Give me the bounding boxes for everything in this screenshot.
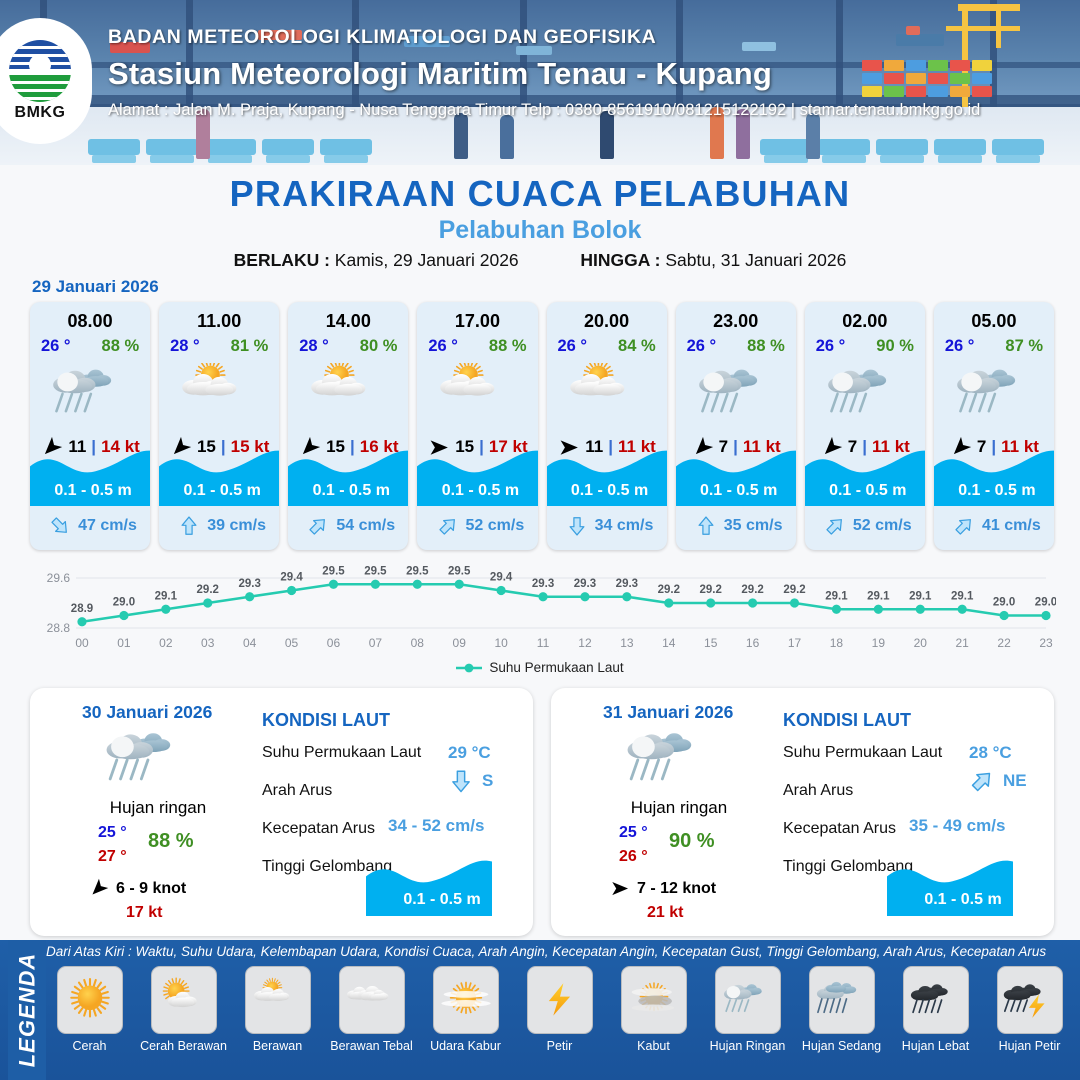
- daily-forecast-panels: 30 Januari 2026 Hujan ringan 25 ° 27 ° 8…: [30, 688, 1054, 936]
- panel-wave-box: 0.1 - 0.5 m: [366, 860, 518, 916]
- terminal-chair: [204, 139, 256, 155]
- card-wave-area: 0.1 - 0.5 m: [288, 444, 408, 506]
- svg-text:29.3: 29.3: [616, 578, 638, 590]
- panel-temp-max: 26 °: [619, 848, 648, 866]
- panel-wave-value: 0.1 - 0.5 m: [887, 891, 1039, 909]
- legend-item-icon-box: [997, 966, 1063, 1034]
- svg-text:29.2: 29.2: [197, 584, 219, 596]
- svg-text:29.3: 29.3: [574, 578, 596, 590]
- panel-wave-box: 0.1 - 0.5 m: [887, 860, 1039, 916]
- panel-weather-icon: [92, 726, 202, 794]
- weather-icon-hujan-sedang: [814, 974, 870, 1026]
- svg-text:29.4: 29.4: [280, 572, 303, 584]
- card-humidity: 88 %: [747, 337, 785, 356]
- svg-text:06: 06: [327, 636, 341, 650]
- legend-item-label: Hujan Sedang: [802, 1039, 881, 1053]
- legend-item-label: Cerah Berawan: [140, 1039, 227, 1053]
- svg-text:29.1: 29.1: [909, 590, 932, 602]
- svg-text:04: 04: [243, 636, 257, 650]
- card-current-speed: 54 cm/s: [336, 517, 395, 535]
- card-wave-height: 0.1 - 0.5 m: [159, 482, 279, 500]
- weather-icon-berawan: [564, 363, 650, 425]
- legend-item-label: Hujan Petir: [999, 1039, 1061, 1053]
- legend-item-label: Udara Kabur: [430, 1039, 501, 1053]
- person-figure: [500, 115, 514, 159]
- wind-direction-icon: [609, 878, 630, 899]
- card-wave-height: 0.1 - 0.5 m: [934, 482, 1054, 500]
- card-time: 20.00: [547, 311, 667, 332]
- panel-temp-max: 27 °: [98, 848, 127, 866]
- terminal-chair: [146, 139, 198, 155]
- svg-text:03: 03: [201, 636, 215, 650]
- current-direction-icon: [566, 515, 588, 537]
- panel-sst-value: 28 °C: [969, 743, 1012, 763]
- weather-icon-hujan-ringan: [720, 974, 776, 1026]
- card-weather-icon: [159, 358, 279, 430]
- current-direction-icon: [695, 515, 717, 537]
- svg-text:07: 07: [369, 636, 383, 650]
- legend-item-icon-box: [433, 966, 499, 1034]
- page-title: PRAKIRAAN CUACA PELABUHAN: [0, 173, 1080, 215]
- svg-text:10: 10: [494, 636, 508, 650]
- legend-item-icon-box: [621, 966, 687, 1034]
- panel-section-title: KONDISI LAUT: [262, 710, 390, 731]
- svg-text:29.0: 29.0: [1035, 597, 1056, 609]
- card-time: 23.00: [676, 311, 796, 332]
- legend-item: Cerah Berawan: [140, 966, 227, 1076]
- berlaku-value: Kamis, 29 Januari 2026: [335, 250, 519, 270]
- legend-item-label: Berawan: [253, 1039, 302, 1053]
- panel-date: 31 Januari 2026: [603, 702, 733, 723]
- panel-wind-row: 6 - 9 knot: [88, 878, 186, 899]
- panel-current-speed-label: Kecepatan Arus: [783, 820, 896, 838]
- card-time: 17.00: [417, 311, 537, 332]
- card-weather-icon: [30, 358, 150, 430]
- hourly-forecast-list: 08.00 26 ° 88 % 11 | 14 kt: [30, 302, 1054, 550]
- sst-chart: 28.829.628.90029.00129.10229.20329.30429…: [24, 556, 1056, 680]
- weather-icon-berawan: [434, 363, 520, 425]
- svg-text:29.1: 29.1: [867, 590, 890, 602]
- legend-item: Hujan Petir: [986, 966, 1073, 1076]
- card-current-speed: 52 cm/s: [466, 517, 525, 535]
- legend-item-label: Kabut: [637, 1039, 670, 1053]
- weather-icon-berawan-tebal: [344, 974, 400, 1026]
- current-direction-icon: [824, 515, 846, 537]
- card-current-row: 41 cm/s: [934, 509, 1054, 543]
- card-weather-icon: [805, 358, 925, 430]
- svg-text:15: 15: [704, 636, 718, 650]
- svg-text:18: 18: [830, 636, 844, 650]
- current-direction-icon: [178, 515, 200, 537]
- legend-item: Kabut: [610, 966, 697, 1076]
- weather-icon-hujan-ringan: [822, 363, 908, 425]
- terminal-chair: [876, 139, 928, 155]
- legend-item-icon-box: [245, 966, 311, 1034]
- station-name: Stasiun Meteorologi Maritim Tenau - Kupa…: [108, 56, 980, 92]
- agency-name: BADAN METEOROLOGI KLIMATOLOGI DAN GEOFIS…: [108, 26, 980, 49]
- weather-icon-udara-kabur: [438, 974, 494, 1026]
- legend-item-icon-box: [903, 966, 969, 1034]
- svg-text:20: 20: [914, 636, 928, 650]
- card-air-temperature: 26 °: [816, 337, 846, 356]
- legend-item-icon-box: [339, 966, 405, 1034]
- legend-item-icon-box: [527, 966, 593, 1034]
- chart-legend: Suhu Permukaan Laut: [24, 660, 1056, 675]
- card-air-temperature: 28 °: [299, 337, 329, 356]
- svg-text:29.2: 29.2: [658, 584, 680, 596]
- svg-text:29.1: 29.1: [825, 590, 848, 602]
- svg-text:29.4: 29.4: [490, 572, 513, 584]
- card-humidity: 90 %: [876, 337, 914, 356]
- bmkg-logo: BMKG: [0, 18, 92, 144]
- card-wave-height: 0.1 - 0.5 m: [547, 482, 667, 500]
- svg-text:29.5: 29.5: [406, 565, 429, 577]
- panel-wind-row: 7 - 12 knot: [609, 878, 716, 899]
- svg-text:12: 12: [578, 636, 592, 650]
- weather-icon-hujan-ringan: [693, 363, 779, 425]
- card-weather-icon: [417, 358, 537, 430]
- panel-date: 30 Januari 2026: [82, 702, 212, 723]
- legend-item: Petir: [516, 966, 603, 1076]
- legend-item-icon-box: [57, 966, 123, 1034]
- chart-legend-label: Suhu Permukaan Laut: [489, 660, 623, 675]
- svg-text:02: 02: [159, 636, 173, 650]
- panel-weather-icon: [613, 726, 723, 794]
- svg-text:16: 16: [746, 636, 760, 650]
- svg-text:29.1: 29.1: [155, 590, 178, 602]
- card-current-row: 52 cm/s: [417, 509, 537, 543]
- card-time: 14.00: [288, 311, 408, 332]
- svg-text:29.3: 29.3: [238, 578, 260, 590]
- terminal-chair: [992, 139, 1044, 155]
- svg-text:29.0: 29.0: [113, 597, 135, 609]
- current-direction-icon: [953, 515, 975, 537]
- card-air-temperature: 28 °: [170, 337, 200, 356]
- wind-direction-icon: [88, 878, 109, 899]
- svg-text:29.5: 29.5: [322, 565, 345, 577]
- card-current-speed: 52 cm/s: [853, 517, 912, 535]
- card-current-speed: 39 cm/s: [207, 517, 266, 535]
- legend-item: Cerah: [46, 966, 133, 1076]
- svg-text:29.6: 29.6: [47, 571, 71, 585]
- card-current-row: 54 cm/s: [288, 509, 408, 543]
- current-direction-icon: [437, 515, 459, 537]
- sst-chart-svg: 28.829.628.90029.00129.10229.20329.30429…: [24, 556, 1056, 660]
- svg-text:29.0: 29.0: [993, 597, 1015, 609]
- legend-item-icon-box: [715, 966, 781, 1034]
- card-humidity: 88 %: [102, 337, 140, 356]
- card-humidity: 88 %: [489, 337, 527, 356]
- svg-text:13: 13: [620, 636, 634, 650]
- svg-text:22: 22: [997, 636, 1011, 650]
- legend-item-label: Hujan Lebat: [902, 1039, 969, 1053]
- card-wave-area: 0.1 - 0.5 m: [676, 444, 796, 506]
- card-current-row: 34 cm/s: [547, 509, 667, 543]
- panel-current-dir-value: NE: [1003, 771, 1027, 791]
- card-wave-area: 0.1 - 0.5 m: [934, 444, 1054, 506]
- card-current-speed: 47 cm/s: [78, 517, 137, 535]
- card-current-speed: 35 cm/s: [724, 517, 783, 535]
- page-header: BMKG BADAN METEOROLOGI KLIMATOLOGI DAN G…: [0, 0, 1080, 165]
- card-air-temperature: 26 °: [945, 337, 975, 356]
- svg-text:11: 11: [537, 636, 550, 650]
- card-time: 08.00: [30, 311, 150, 332]
- card-wave-height: 0.1 - 0.5 m: [288, 482, 408, 500]
- card-time: 11.00: [159, 311, 279, 332]
- legend-footer: LEGENDA Dari Atas Kiri : Waktu, Suhu Uda…: [0, 940, 1080, 1080]
- terminal-chair: [760, 139, 812, 155]
- card-time: 02.00: [805, 311, 925, 332]
- weather-icon-cerah-berawan: [156, 974, 212, 1026]
- legend-item: Hujan Sedang: [798, 966, 885, 1076]
- card-current-row: 35 cm/s: [676, 509, 796, 543]
- panel-current-dir-label: Arah Arus: [262, 782, 332, 800]
- card-humidity: 87 %: [1005, 337, 1043, 356]
- page-subtitle: Pelabuhan Bolok: [0, 216, 1080, 245]
- weather-icon-berawan: [176, 363, 262, 425]
- svg-text:19: 19: [872, 636, 886, 650]
- card-wave-height: 0.1 - 0.5 m: [30, 482, 150, 500]
- current-direction-icon: [307, 515, 329, 537]
- panel-humidity: 90 %: [669, 830, 715, 853]
- panel-sst-label: Suhu Permukaan Laut: [783, 744, 942, 762]
- weather-icon-petir: [532, 974, 588, 1026]
- legend-item-label: Cerah: [72, 1039, 106, 1053]
- panel-section-title: KONDISI LAUT: [783, 710, 911, 731]
- legend-strip-label: LEGENDA: [14, 953, 40, 1068]
- weather-icon-kabut: [626, 974, 682, 1026]
- legend-item-label: Petir: [547, 1039, 573, 1053]
- legend-item-icon-box: [809, 966, 875, 1034]
- terminal-chair: [934, 139, 986, 155]
- weather-icon-cerah: [62, 974, 118, 1026]
- svg-text:29.5: 29.5: [448, 565, 471, 577]
- terminal-chair: [262, 139, 314, 155]
- card-time: 05.00: [934, 311, 1054, 332]
- weather-icon-berawan: [305, 363, 391, 425]
- panel-current-dir-row: NE: [969, 768, 1027, 794]
- svg-text:00: 00: [75, 636, 89, 650]
- card-current-row: 39 cm/s: [159, 509, 279, 543]
- panel-sst-label: Suhu Permukaan Laut: [262, 744, 421, 762]
- daily-forecast-panel: 31 Januari 2026 Hujan ringan 25 ° 26 ° 9…: [551, 688, 1054, 936]
- card-humidity: 80 %: [360, 337, 398, 356]
- terminal-chair: [818, 139, 870, 155]
- bmkg-logo-text: BMKG: [15, 104, 66, 122]
- svg-text:29.2: 29.2: [741, 584, 763, 596]
- panel-current-dir-row: S: [448, 768, 493, 794]
- weather-icon-hujan-ringan: [613, 726, 723, 794]
- panel-condition: Hujan ringan: [569, 798, 789, 818]
- panel-wave-value: 0.1 - 0.5 m: [366, 891, 518, 909]
- terminal-chair: [88, 139, 140, 155]
- card-air-temperature: 26 °: [428, 337, 458, 356]
- panel-sst-value: 29 °C: [448, 743, 491, 763]
- legend-item-label: Hujan Ringan: [710, 1039, 786, 1053]
- forecast-card: 02.00 26 ° 90 % 7 | 11 kt: [805, 302, 925, 550]
- svg-text:08: 08: [411, 636, 425, 650]
- card-current-speed: 41 cm/s: [982, 517, 1041, 535]
- panel-current-dir-label: Arah Arus: [783, 782, 853, 800]
- card-weather-icon: [547, 358, 667, 430]
- hingga-label: HINGGA :: [580, 250, 660, 270]
- forecast-card: 08.00 26 ° 88 % 11 | 14 kt: [30, 302, 150, 550]
- panel-current-speed-value: 35 - 49 cm/s: [909, 816, 1005, 836]
- legend-marker-icon: [456, 662, 482, 674]
- panel-condition: Hujan ringan: [48, 798, 268, 818]
- panel-gust: 21 kt: [647, 904, 683, 922]
- weather-icon-hujan-ringan: [951, 363, 1037, 425]
- legend-note: Dari Atas Kiri : Waktu, Suhu Udara, Kele…: [46, 944, 1080, 959]
- panel-current-dir-value: S: [482, 771, 493, 791]
- card-wave-area: 0.1 - 0.5 m: [30, 444, 150, 506]
- svg-text:05: 05: [285, 636, 299, 650]
- svg-text:01: 01: [117, 636, 131, 650]
- svg-text:29.5: 29.5: [364, 565, 387, 577]
- legend-strip: LEGENDA: [8, 940, 46, 1080]
- panel-gust: 17 kt: [126, 904, 162, 922]
- legend-item-list: Cerah Cerah Berawan Berawan: [46, 966, 1080, 1076]
- panel-wind-range: 6 - 9 knot: [116, 880, 186, 898]
- panel-current-speed-label: Kecepatan Arus: [262, 820, 375, 838]
- card-air-temperature: 26 °: [558, 337, 588, 356]
- forecast-card: 23.00 26 ° 88 % 7 | 11 kt: [676, 302, 796, 550]
- forecast-date-label: 29 Januari 2026: [32, 277, 159, 297]
- weather-icon-hujan-ringan: [47, 363, 133, 425]
- card-current-row: 47 cm/s: [30, 509, 150, 543]
- current-direction-icon: [448, 768, 474, 794]
- legend-item-label: Berawan Tebal: [330, 1039, 412, 1053]
- current-direction-icon: [969, 768, 995, 794]
- svg-text:23: 23: [1039, 636, 1053, 650]
- svg-text:28.9: 28.9: [71, 603, 93, 615]
- weather-icon-berawan: [250, 974, 306, 1026]
- svg-text:21: 21: [955, 636, 969, 650]
- current-direction-icon: [49, 515, 71, 537]
- card-wave-area: 0.1 - 0.5 m: [159, 444, 279, 506]
- panel-temp-min: 25 °: [98, 824, 127, 842]
- svg-text:17: 17: [788, 636, 802, 650]
- svg-text:14: 14: [662, 636, 676, 650]
- weather-icon-hujan-ringan: [92, 726, 202, 794]
- legend-item: Hujan Ringan: [704, 966, 791, 1076]
- bmkg-emblem-icon: [9, 40, 71, 102]
- weather-icon-hujan-petir: [1002, 974, 1058, 1026]
- card-humidity: 81 %: [231, 337, 269, 356]
- weather-icon-hujan-lebat: [908, 974, 964, 1026]
- panel-temp-min: 25 °: [619, 824, 648, 842]
- legend-item-icon-box: [151, 966, 217, 1034]
- forecast-card: 14.00 28 ° 80 % 15 | 16 kt: [288, 302, 408, 550]
- card-current-speed: 34 cm/s: [595, 517, 654, 535]
- card-air-temperature: 26 °: [687, 337, 717, 356]
- card-air-temperature: 26 °: [41, 337, 71, 356]
- legend-item: Berawan: [234, 966, 321, 1076]
- terminal-chair: [320, 139, 372, 155]
- panel-current-speed-value: 34 - 52 cm/s: [388, 816, 484, 836]
- card-current-row: 52 cm/s: [805, 509, 925, 543]
- card-wave-height: 0.1 - 0.5 m: [805, 482, 925, 500]
- card-wave-area: 0.1 - 0.5 m: [805, 444, 925, 506]
- forecast-card: 05.00 26 ° 87 % 7 | 11 kt: [934, 302, 1054, 550]
- station-address: Alamat : Jalan M. Praja, Kupang - Nusa T…: [108, 101, 980, 120]
- svg-text:09: 09: [453, 636, 467, 650]
- legend-item: Berawan Tebal: [328, 966, 415, 1076]
- panel-wind-range: 7 - 12 knot: [637, 880, 716, 898]
- card-wave-area: 0.1 - 0.5 m: [417, 444, 537, 506]
- legend-item: Udara Kabur: [422, 966, 509, 1076]
- card-wave-height: 0.1 - 0.5 m: [676, 482, 796, 500]
- hingga-value: Sabtu, 31 Januari 2026: [665, 250, 846, 270]
- card-wave-height: 0.1 - 0.5 m: [417, 482, 537, 500]
- svg-text:29.3: 29.3: [532, 578, 554, 590]
- berlaku-label: BERLAKU :: [234, 250, 330, 270]
- svg-text:28.8: 28.8: [47, 621, 71, 635]
- svg-text:29.2: 29.2: [783, 584, 805, 596]
- legend-item: Hujan Lebat: [892, 966, 979, 1076]
- forecast-card: 11.00 28 ° 81 % 15 | 15 kt: [159, 302, 279, 550]
- card-humidity: 84 %: [618, 337, 656, 356]
- svg-text:29.1: 29.1: [951, 590, 974, 602]
- card-wave-area: 0.1 - 0.5 m: [547, 444, 667, 506]
- svg-text:29.2: 29.2: [700, 584, 722, 596]
- card-weather-icon: [934, 358, 1054, 430]
- panel-humidity: 88 %: [148, 830, 194, 853]
- forecast-card: 20.00 26 ° 84 % 11 | 11 kt: [547, 302, 667, 550]
- card-weather-icon: [288, 358, 408, 430]
- validity-range: BERLAKU : Kamis, 29 Januari 2026 HINGGA …: [0, 250, 1080, 271]
- card-weather-icon: [676, 358, 796, 430]
- forecast-card: 17.00 26 ° 88 % 15 | 17 kt: [417, 302, 537, 550]
- daily-forecast-panel: 30 Januari 2026 Hujan ringan 25 ° 27 ° 8…: [30, 688, 533, 936]
